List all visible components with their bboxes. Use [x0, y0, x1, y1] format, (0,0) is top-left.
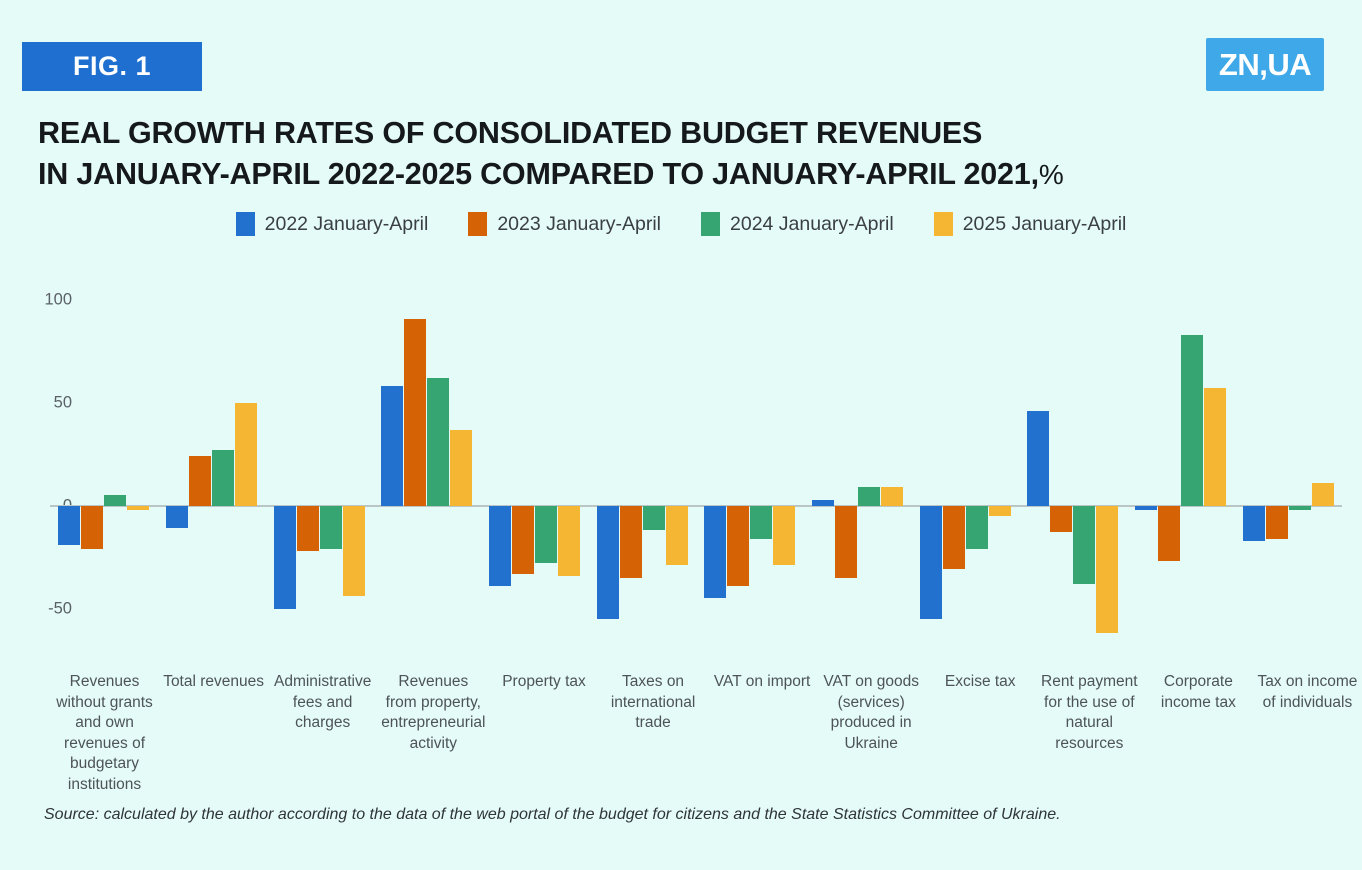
bar: [858, 487, 880, 506]
bar: [212, 450, 234, 506]
x-axis-category-label: Rent payment for the use of natural reso…: [1035, 672, 1144, 796]
bar: [404, 319, 426, 506]
figure-badge-label: FIG. 1: [73, 51, 151, 82]
bar-group-bars: [373, 300, 481, 660]
bar: [1135, 506, 1157, 510]
bar: [1312, 483, 1334, 506]
legend-swatch-icon: [468, 212, 487, 236]
legend-swatch-icon: [701, 212, 720, 236]
bar: [189, 456, 211, 505]
bar: [535, 506, 557, 564]
bar: [1181, 335, 1203, 506]
bar: [427, 378, 449, 506]
bar: [343, 506, 365, 597]
bar-group-bars: [50, 300, 158, 660]
page-title: REAL GROWTH RATES OF CONSOLIDATED BUDGET…: [38, 113, 1288, 194]
bar: [235, 403, 257, 506]
page-title-line2-wrap: IN JANUARY-APRIL 2022-2025 COMPARED TO J…: [38, 154, 1288, 195]
legend-label: 2024 January-April: [730, 213, 894, 236]
bar-group-bars: [1234, 300, 1342, 660]
bar: [773, 506, 795, 566]
bar-group: [911, 300, 1019, 660]
bar-group: [1019, 300, 1127, 660]
legend-label: 2023 January-April: [497, 213, 661, 236]
bar-group-bars: [158, 300, 266, 660]
bar-group: [1234, 300, 1342, 660]
bar-group-bars: [588, 300, 696, 660]
x-axis-category-label: Property tax: [489, 672, 598, 796]
bar-group: [265, 300, 373, 660]
bar-group: [50, 300, 158, 660]
bar: [1050, 506, 1072, 533]
bar: [835, 506, 857, 578]
bar: [81, 506, 103, 549]
bar: [127, 506, 149, 510]
bar: [727, 506, 749, 586]
legend-label: 2022 January-April: [265, 213, 429, 236]
bar: [750, 506, 772, 539]
bar: [881, 487, 903, 506]
bar: [1289, 506, 1311, 510]
legend-swatch-icon: [236, 212, 255, 236]
bar: [1243, 506, 1265, 541]
bar: [812, 500, 834, 506]
bar: [104, 495, 126, 505]
bar-group: [696, 300, 804, 660]
bar: [274, 506, 296, 609]
bar: [512, 506, 534, 574]
x-axis-category-label: Taxes on international trade: [599, 672, 708, 796]
source-note: Source: calculated by the author accordi…: [44, 806, 1061, 824]
chart-plot-area: 100500-50: [22, 300, 1342, 660]
page-title-unit: %: [1039, 159, 1064, 190]
bar-group-bars: [481, 300, 589, 660]
bar: [966, 506, 988, 549]
bar: [1027, 411, 1049, 506]
bar-group: [481, 300, 589, 660]
bar-group: [1127, 300, 1235, 660]
bar: [1266, 506, 1288, 539]
x-axis-category-label: Revenues without grants and own revenues…: [50, 672, 159, 796]
bar-group: [158, 300, 266, 660]
bar: [1158, 506, 1180, 562]
x-axis-category-label: Corporate income tax: [1144, 672, 1253, 796]
bar: [166, 506, 188, 529]
zn-ua-logo-text: ZN,UA: [1219, 47, 1311, 83]
bar: [666, 506, 688, 566]
bar-group-bars: [265, 300, 373, 660]
bar: [320, 506, 342, 549]
bar: [558, 506, 580, 576]
x-axis-category-label: Excise tax: [926, 672, 1035, 796]
legend-item-2024[interactable]: 2024 January-April: [701, 212, 894, 236]
bar-group: [588, 300, 696, 660]
bar: [920, 506, 942, 619]
x-axis-category-label: Administrative fees and charges: [268, 672, 377, 796]
x-axis-category-label: Total revenues: [159, 672, 268, 796]
x-axis-category-label: Revenues from property, entrepreneurial …: [377, 672, 489, 796]
chart-panel: [50, 300, 1342, 660]
bar-groups: [50, 300, 1342, 660]
legend-item-2023[interactable]: 2023 January-April: [468, 212, 661, 236]
bar: [704, 506, 726, 599]
bar: [58, 506, 80, 545]
page-title-line2: IN JANUARY-APRIL 2022-2025 COMPARED TO J…: [38, 157, 1039, 191]
legend-swatch-icon: [934, 212, 953, 236]
bar: [620, 506, 642, 578]
bar: [450, 430, 472, 506]
figure-badge: FIG. 1: [22, 42, 202, 91]
bar-group: [373, 300, 481, 660]
bar-group-bars: [1127, 300, 1235, 660]
bar: [1073, 506, 1095, 584]
legend-label: 2025 January-April: [963, 213, 1127, 236]
bar-group-bars: [911, 300, 1019, 660]
bar: [989, 506, 1011, 516]
legend-item-2025[interactable]: 2025 January-April: [934, 212, 1127, 236]
x-axis-category-label: VAT on goods (services) produced in Ukra…: [817, 672, 926, 796]
bar-group-bars: [804, 300, 912, 660]
bar: [643, 506, 665, 531]
bar: [297, 506, 319, 551]
bar: [381, 386, 403, 505]
bar-group-bars: [1019, 300, 1127, 660]
page-title-line1: REAL GROWTH RATES OF CONSOLIDATED BUDGET…: [38, 113, 1288, 154]
x-axis-category-labels: Revenues without grants and own revenues…: [50, 672, 1362, 796]
zn-ua-logo: ZN,UA: [1206, 38, 1324, 91]
bar-group-bars: [696, 300, 804, 660]
bar: [597, 506, 619, 619]
bar: [943, 506, 965, 570]
legend-item-2022[interactable]: 2022 January-April: [236, 212, 429, 236]
bar: [1204, 388, 1226, 505]
x-axis-category-label: Tax on income of individuals: [1253, 672, 1362, 796]
chart-legend: 2022 January-April2023 January-April2024…: [0, 212, 1362, 236]
bar: [489, 506, 511, 586]
bar: [1096, 506, 1118, 634]
x-axis-category-label: VAT on import: [708, 672, 817, 796]
bar-group: [804, 300, 912, 660]
